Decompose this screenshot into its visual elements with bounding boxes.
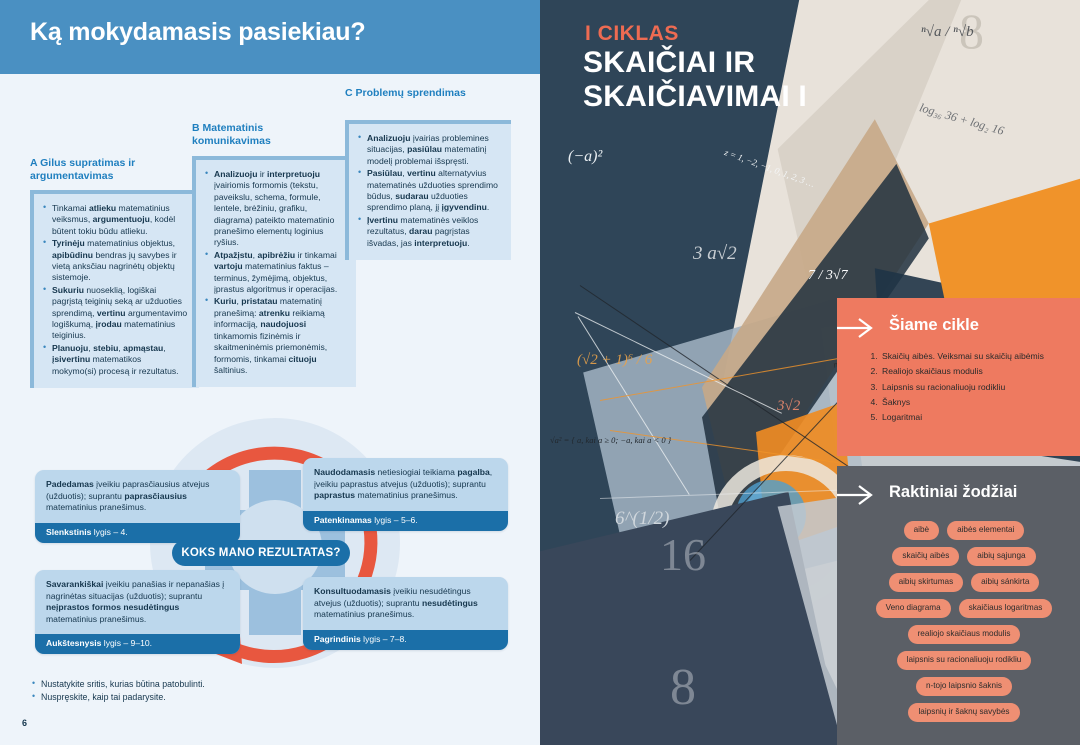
keyword-pill[interactable]: aibių sąjunga: [967, 547, 1035, 566]
artwork-formula: 3 a√2: [693, 243, 737, 265]
list-item: Tinkamai atlieku matematinius veiksmus, …: [43, 203, 188, 237]
keyword-pill-group: aibė aibės elementai skaičių aibės aibių…: [852, 521, 1076, 722]
column-c-list: Analizuoju įvairias problemines situacij…: [358, 133, 500, 249]
level-box-body: Naudodamasis netiesiogiai teikiama pagal…: [303, 458, 508, 511]
list-item: Įvertinu matematinės veiklos rezultatus,…: [358, 215, 500, 249]
cycle-label: I CIKLAS: [585, 22, 679, 46]
keyword-row: skaičių aibės aibių sąjunga: [852, 547, 1076, 566]
artwork-formula: (√2 + 1)⁶ / 6: [577, 352, 652, 369]
list-item: Skaičių aibės. Veiksmai su skaičių aibėm…: [880, 349, 1076, 364]
level-box-footer: Pagrindinis lygis – 7–8.: [303, 630, 508, 650]
keyword-row: Veno diagrama skaičiaus logaritmas: [852, 599, 1076, 618]
column-b-box: Analizuoju ir interpretuoju įvairiomis f…: [192, 156, 356, 387]
footer-list: Nustatykite sritis, kurias būtina patobu…: [32, 678, 352, 704]
spread-page: Ką mokydamasis pasiekiau? A Gilus suprat…: [0, 0, 1080, 745]
level-box-footer: Aukštesnysis lygis – 9–10.: [35, 634, 240, 654]
level-box-body: Padedamas įveikiu paprasčiausius atvejus…: [35, 470, 240, 523]
keyword-pill[interactable]: Veno diagrama: [876, 599, 951, 618]
list-item: Sukuriu nuoseklią, logiškai pagrįstą tei…: [43, 285, 188, 342]
arrow-right-icon: [835, 316, 879, 340]
list-item: Laipsnis su racionaliuoju rodikliu: [880, 380, 1076, 395]
artwork-formula: (−a)²: [568, 148, 602, 166]
list-item: Tyrinėju matematinius objektus, apibūdin…: [43, 238, 188, 284]
keyword-row: laipsnis su racionaliuoju rodikliu: [852, 651, 1076, 670]
artwork-formula: ⁿ√a / ⁿ√b: [921, 25, 974, 40]
level-box-footer: Patenkinamas lygis – 5–6.: [303, 511, 508, 531]
level-box-body: Konsultuodamasis įveikiu nesudėtingus at…: [303, 577, 508, 630]
keyword-pill[interactable]: laipsnių ir šaknų savybės: [908, 703, 1019, 722]
level-box-slenkstinis: Padedamas įveikiu paprasčiausius atvejus…: [35, 470, 240, 543]
keyword-row: aibė aibės elementai: [852, 521, 1076, 540]
level-box-pagrindinis: Konsultuodamasis įveikiu nesudėtingus at…: [303, 577, 508, 650]
list-item: Atpažįstu, apibrėžiu ir tinkamai vartoju…: [205, 250, 345, 296]
list-item: Analizuoju įvairias problemines situacij…: [358, 133, 500, 167]
column-c-heading: C Problemų sprendimas: [345, 87, 495, 100]
keyword-pill[interactable]: laipsnis su racionaliuoju rodikliu: [897, 651, 1032, 670]
artwork-formula: 3√2: [777, 398, 800, 415]
keyword-pill[interactable]: skaičiaus logaritmas: [959, 599, 1053, 618]
keyword-pill[interactable]: aibių sánkirta: [971, 573, 1039, 592]
cycle-title: SKAIČIAI IR SKAIČIAVIMAI I: [583, 46, 807, 114]
list-item: Planuoju, stebiu, apmąstau, įsivertinu m…: [43, 343, 188, 377]
column-b-list: Analizuoju ir interpretuoju įvairiomis f…: [205, 169, 345, 376]
arrow-right-icon: [835, 483, 879, 507]
artwork-number: 8: [670, 658, 696, 717]
in-cycle-ordered-list: Skaičių aibės. Veiksmai su skaičių aibėm…: [866, 349, 1076, 425]
center-badge: KOKS MANO REZULTATAS?: [172, 540, 350, 566]
keyword-pill[interactable]: aibė: [904, 521, 939, 540]
left-page: Ką mokydamasis pasiekiau? A Gilus suprat…: [0, 0, 540, 745]
list-item: Nuspręskite, kaip tai padarysite.: [32, 691, 352, 704]
list-item: Pasiūlau, vertinu alternatyvius matemati…: [358, 168, 500, 214]
level-box-body: Savarankiškai įveikiu panašias ir nepana…: [35, 570, 240, 634]
artwork-number: 16: [660, 528, 706, 581]
keyword-pill[interactable]: aibės elementai: [947, 521, 1024, 540]
footer-instructions: Nustatykite sritis, kurias būtina patobu…: [32, 678, 352, 704]
artwork-formula: √a² = { a, kai a ≥ 0; −a, kai a < 0 }: [550, 435, 671, 446]
keyword-pill[interactable]: n-tojo laipsnio šaknis: [916, 677, 1012, 696]
column-c-box: Analizuoju įvairias problemines situacij…: [345, 120, 511, 260]
keyword-pill[interactable]: realiojo skaičiaus modulis: [908, 625, 1021, 644]
list-item: Analizuoju ir interpretuoju įvairiomis f…: [205, 169, 345, 249]
column-b-heading: B Matematinis komunikavimas: [192, 122, 342, 148]
right-page: 8 16 8 (−a)² ⁿ√a / ⁿ√b log₃₆ 36 + log₂ 1…: [540, 0, 1080, 745]
column-a-box: Tinkamai atlieku matematinius veiksmus, …: [30, 190, 199, 388]
column-a-list: Tinkamai atlieku matematinius veiksmus, …: [43, 203, 188, 377]
page-title: Ką mokydamasis pasiekiau?: [30, 18, 365, 47]
keyword-pill[interactable]: skaičių aibės: [892, 547, 959, 566]
keyword-row: realiojo skaičiaus modulis: [852, 625, 1076, 644]
cycle-title-line2: SKAIČIAVIMAI I: [583, 80, 807, 114]
list-item: Šaknys: [880, 395, 1076, 410]
keyword-pill[interactable]: aibių skirtumas: [889, 573, 964, 592]
level-box-aukstesnysis: Savarankiškai įveikiu panašias ir nepana…: [35, 570, 240, 654]
list-item: Logaritmai: [880, 410, 1076, 425]
list-item: Realiojo skaičiaus modulis: [880, 364, 1076, 379]
level-box-patenkinamas: Naudodamasis netiesiogiai teikiama pagal…: [303, 458, 508, 531]
artwork-formula: 7 / 3√7: [808, 268, 848, 283]
page-number: 6: [22, 718, 27, 728]
in-cycle-title: Šiame cikle: [889, 316, 979, 335]
cycle-title-line1: SKAIČIAI IR: [583, 46, 807, 80]
keyword-row: aibių skirtumas aibių sánkirta: [852, 573, 1076, 592]
keyword-row: n-tojo laipsnio šaknis: [852, 677, 1076, 696]
keyword-row: laipsnių ir šaknų savybės: [852, 703, 1076, 722]
list-item: Kuriu, pristatau matematinį pranešimą: a…: [205, 296, 345, 376]
column-a-heading: A Gilus supratimas ir argumentavimas: [30, 157, 180, 183]
list-item: Nustatykite sritis, kurias būtina patobu…: [32, 678, 352, 691]
artwork-formula: 6^(1/2): [615, 508, 669, 530]
in-cycle-list: Skaičių aibės. Veiksmai su skaičių aibėm…: [866, 349, 1076, 425]
keywords-title: Raktiniai žodžiai: [889, 483, 1017, 502]
